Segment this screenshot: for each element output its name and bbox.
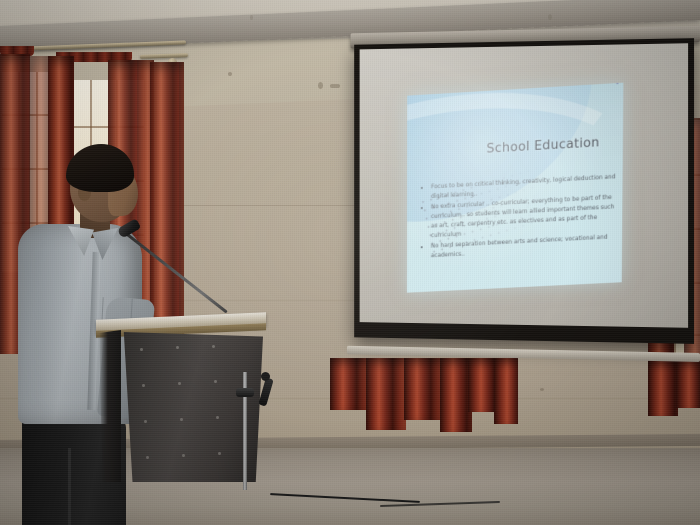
curtain: [494, 358, 518, 424]
wall-mark: [228, 72, 232, 76]
wall-mark: [540, 388, 544, 391]
microphone-capsule: [261, 372, 270, 381]
slide-canvas: School Education Focus to be on critical…: [407, 83, 623, 293]
curtain: [330, 358, 368, 410]
presenter-leg-seam: [68, 448, 71, 525]
projected-slide: School Education Focus to be on critical…: [407, 83, 623, 293]
wall-mark: [318, 82, 323, 89]
curtain: [676, 360, 700, 408]
curtain: [404, 358, 442, 420]
presenter-hair: [66, 144, 134, 192]
presentation-photo: School Education Focus to be on critical…: [0, 0, 700, 525]
wall-mark: [548, 14, 552, 20]
lectern-side-panel: [99, 330, 121, 482]
slide-bullet-list: Focus to be on critical thinking, creati…: [420, 172, 617, 262]
wall-mark: [250, 15, 253, 20]
curtain: [366, 358, 406, 430]
curtain: [648, 360, 678, 416]
projection-screen: School Education Focus to be on critical…: [351, 26, 700, 356]
wall-mark: [330, 84, 340, 88]
curtain: [468, 358, 496, 412]
